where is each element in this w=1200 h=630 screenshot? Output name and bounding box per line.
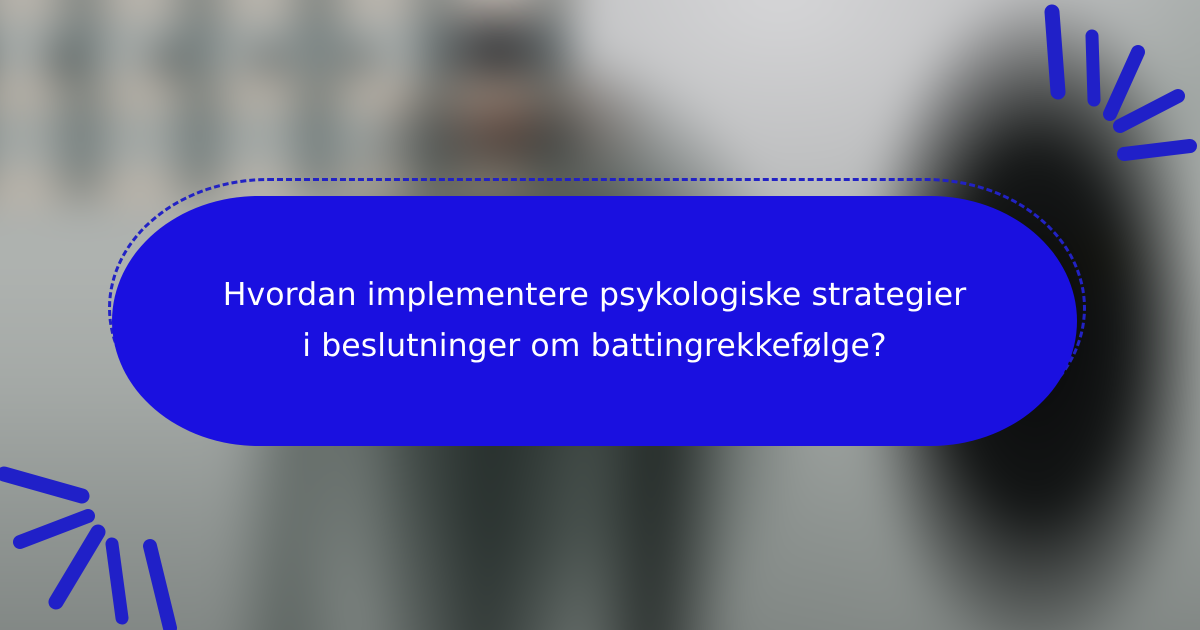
headline-card: Hvordan implementere psykologiske strate…	[112, 196, 1077, 446]
social-card-canvas: Hvordan implementere psykologiske strate…	[0, 0, 1200, 630]
background-window-dots	[0, 26, 550, 96]
headline-text: Hvordan implementere psykologiske strate…	[223, 270, 967, 372]
